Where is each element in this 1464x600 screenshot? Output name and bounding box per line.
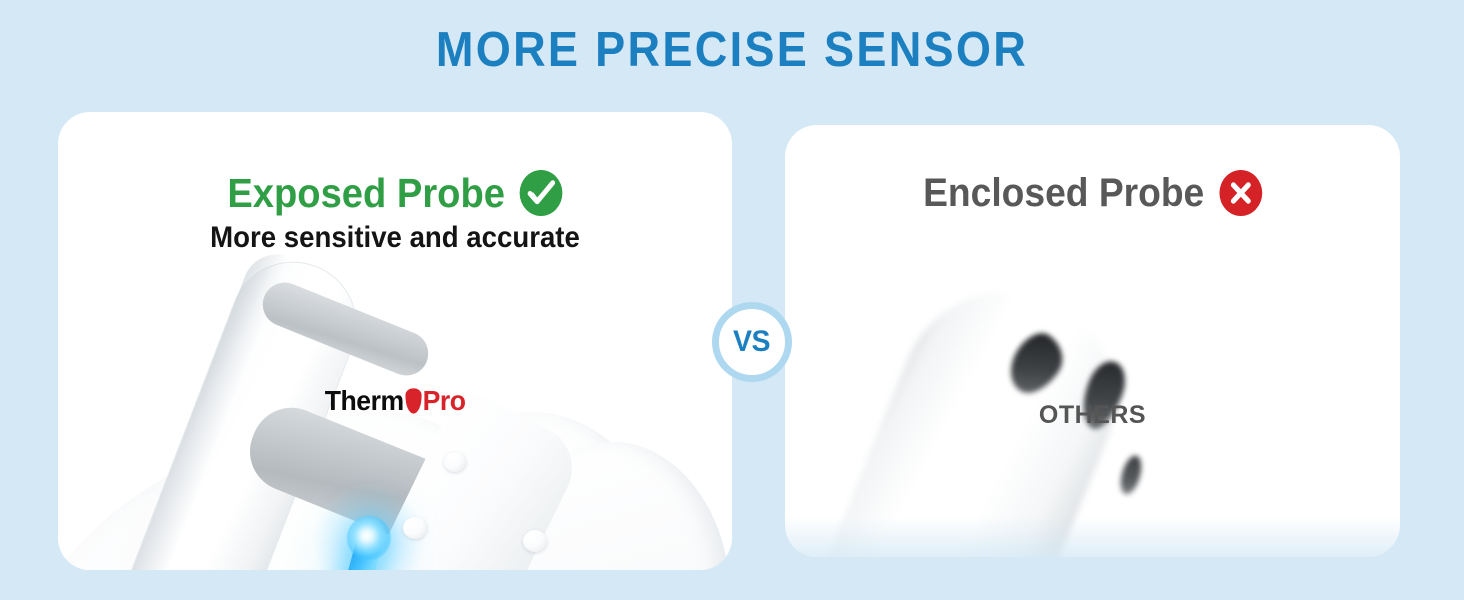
probe-specular-highlight bbox=[785, 125, 806, 156]
thermopro-logo: Therm Pro bbox=[58, 387, 732, 415]
cream-droplet bbox=[403, 517, 427, 539]
bottom-fade-overlay bbox=[785, 517, 1400, 557]
cross-circle-icon bbox=[1219, 170, 1262, 216]
flame-icon bbox=[405, 388, 421, 413]
vs-label: VS bbox=[733, 327, 770, 357]
card-subtitle-exposed: More sensitive and accurate bbox=[85, 223, 705, 253]
check-circle-icon bbox=[520, 170, 563, 216]
card-heading-enclosed: Enclosed Probe bbox=[807, 170, 1379, 216]
cream-droplet bbox=[523, 530, 547, 552]
brand-word-dark: Therm bbox=[325, 387, 404, 415]
others-label: OTHERS bbox=[785, 403, 1400, 428]
brand-word-red: Pro bbox=[422, 387, 465, 415]
comparison-card-enclosed-probe: Enclosed Probe OTHERS bbox=[785, 125, 1400, 557]
page-title: MORE PRECISE SENSOR bbox=[59, 26, 1406, 75]
vs-badge: VS bbox=[712, 302, 792, 382]
probe-specular-highlight bbox=[785, 154, 803, 197]
card-heading-label-enclosed: Enclosed Probe bbox=[923, 173, 1204, 213]
card-heading-label-exposed: Exposed Probe bbox=[227, 173, 505, 214]
cream-droplet bbox=[444, 452, 466, 472]
sensor-tip-glow bbox=[347, 516, 391, 560]
card-heading-exposed: Exposed Probe bbox=[82, 170, 709, 216]
probe-dark-blotch bbox=[1117, 453, 1145, 496]
comparison-card-exposed-probe: Exposed Probe More sensitive and accurat… bbox=[58, 112, 732, 570]
